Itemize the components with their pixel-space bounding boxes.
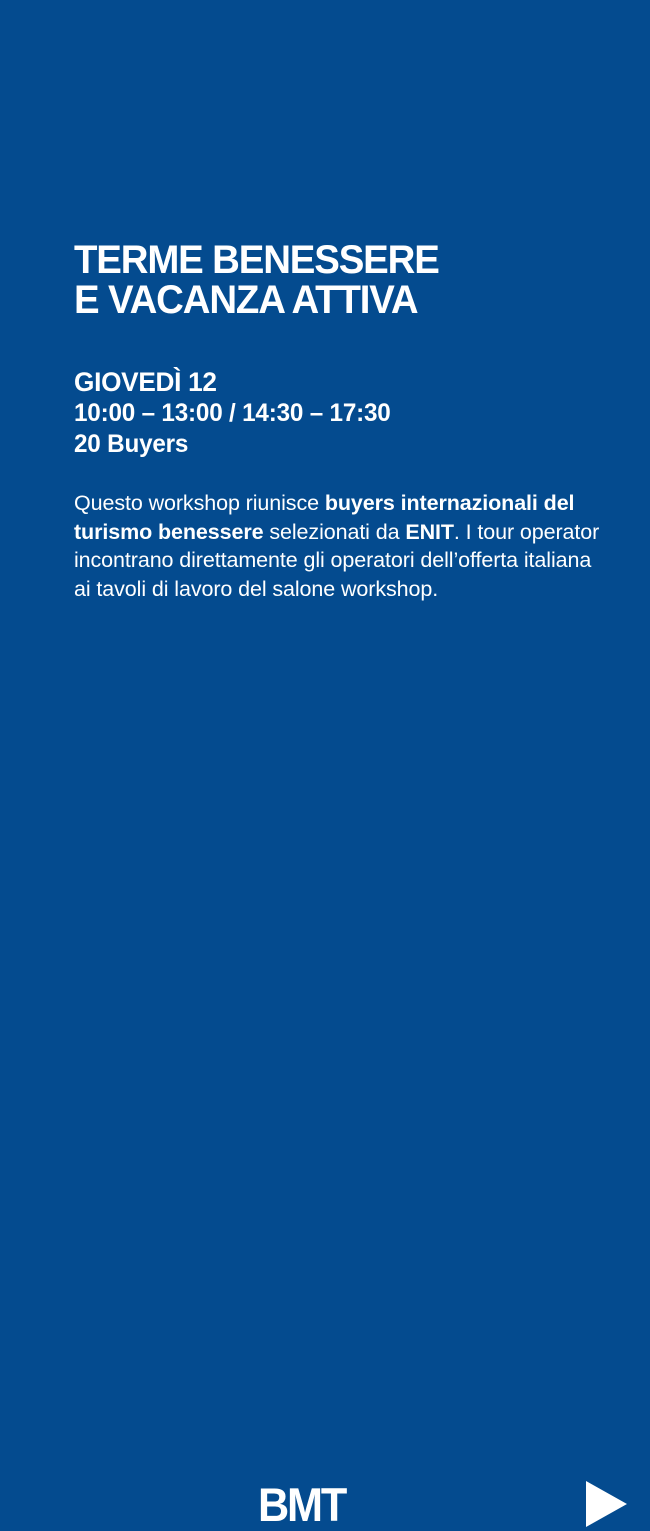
title-line-2: E VACANZA ATTIVA: [74, 280, 573, 320]
description-segment-1: Questo workshop riunisce: [74, 491, 325, 515]
play-triangle-icon[interactable]: [584, 1480, 628, 1528]
description: Questo workshop riunisce buyers internaz…: [74, 489, 604, 603]
event-day: GIOVEDÌ 12: [74, 366, 578, 398]
page-title: TERME BENESSERE E VACANZA ATTIVA: [74, 240, 594, 320]
description-segment-3: selezionati da: [264, 520, 406, 544]
title-line-1: TERME BENESSERE: [74, 240, 573, 280]
bmt-logo: BMT: [258, 1481, 345, 1528]
description-paragraph: Questo workshop riunisce buyers internaz…: [74, 489, 604, 603]
event-details: GIOVEDÌ 12 10:00 – 13:00 / 14:30 – 17:30…: [74, 366, 594, 460]
event-buyers-count: 20 Buyers: [74, 429, 578, 460]
footer: BMT: [0, 735, 650, 813]
event-time: 10:00 – 13:00 / 14:30 – 17:30: [74, 398, 578, 429]
description-segment-4-bold: ENIT: [405, 520, 454, 544]
poster-slide: TERME BENESSERE E VACANZA ATTIVA GIOVEDÌ…: [0, 0, 650, 813]
